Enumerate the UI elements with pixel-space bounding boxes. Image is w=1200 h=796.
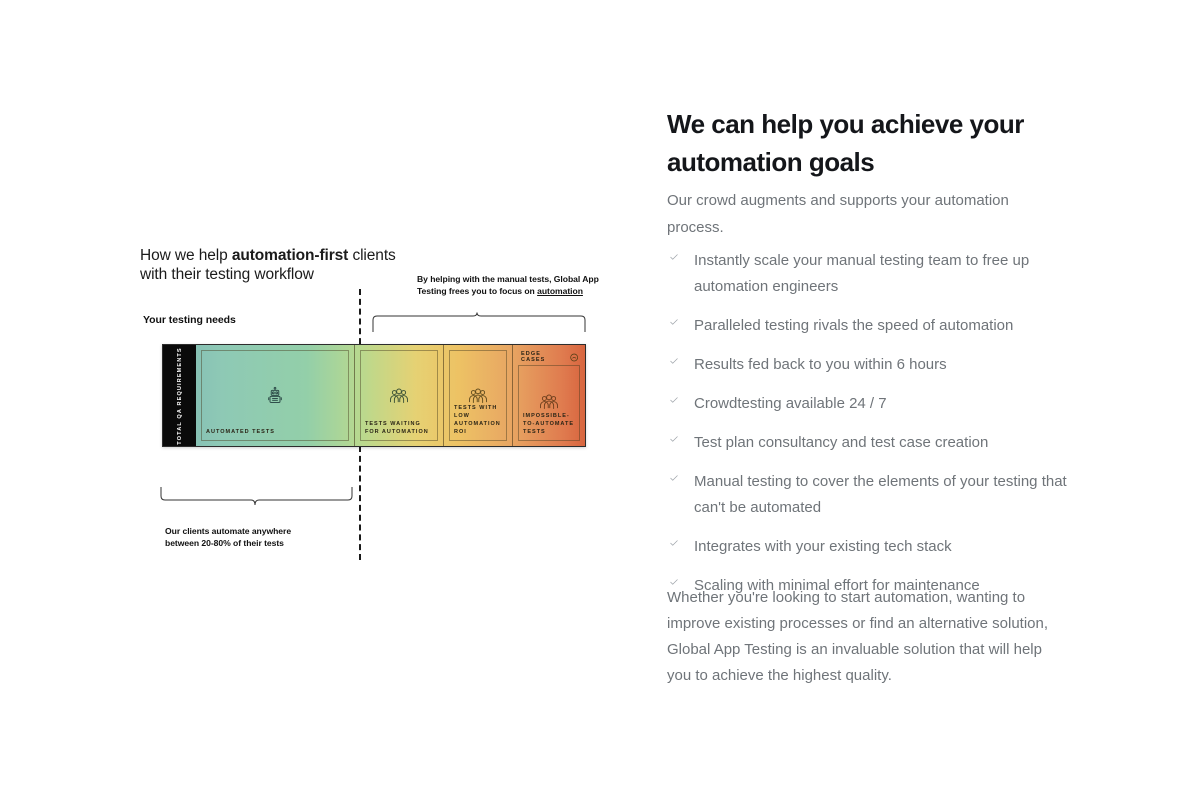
edge-cases-tag: EDGE CASES [521, 351, 578, 363]
check-icon [667, 534, 681, 546]
diagram-title-bold: automation-first [232, 247, 348, 264]
check-icon [667, 573, 681, 585]
benefit-text: Results fed back to you within 6 hours [694, 352, 947, 378]
check-icon [667, 430, 681, 442]
page-root: How we help automation-first clients wit… [0, 0, 1200, 796]
edge-cases-label: EDGE CASES [521, 351, 565, 363]
segment-impossible-to-automate-tests: EDGE CASES IMPOSSIBLE-TO-AUTOMATE TESTS [513, 345, 585, 446]
check-icon [667, 248, 681, 260]
people-group-icon [468, 387, 488, 405]
list-item: Test plan consultancy and test case crea… [667, 430, 1075, 456]
subheading: Our crowd augments and supports your aut… [667, 187, 1042, 241]
content-column: We can help you achieve your automation … [667, 0, 1097, 796]
diagram-title-line2: with their testing workflow [140, 266, 314, 283]
diagram-title: How we help automation-first clients wit… [140, 246, 440, 284]
check-icon [667, 391, 681, 403]
benefit-text: Integrates with your existing tech stack [694, 534, 952, 560]
diagram-footnote-line1: Our clients automate anywhere [165, 526, 291, 536]
total-qa-requirements-axis: TOTAL QA REQUIREMENTS [163, 345, 196, 446]
robot-icon [265, 386, 285, 406]
check-icon [667, 352, 681, 364]
bottom-bracket [160, 487, 353, 509]
segment-automated-tests: AUTOMATED TESTS [196, 345, 355, 446]
list-item: Paralleled testing rivals the speed of a… [667, 313, 1075, 339]
people-group-icon [389, 387, 409, 405]
segment-label: TESTS WITH LOW AUTOMATION ROI [454, 404, 504, 436]
page-title: We can help you achieve your automation … [667, 105, 1027, 181]
list-item: Manual testing to cover the elements of … [667, 469, 1075, 521]
diagram-top-note: By helping with the manual tests, Global… [417, 274, 607, 297]
diagram-title-part1: How we help [140, 247, 232, 264]
diagram-title-part2: clients [348, 247, 395, 264]
total-qa-requirements-label: TOTAL QA REQUIREMENTS [176, 347, 184, 444]
list-item: Crowdtesting available 24 / 7 [667, 391, 1075, 417]
benefit-text: Instantly scale your manual testing team… [694, 248, 1075, 300]
benefit-text: Paralleled testing rivals the speed of a… [694, 313, 1013, 339]
your-testing-needs-label: Your testing needs [143, 314, 236, 326]
testing-workflow-diagram: How we help automation-first clients wit… [0, 0, 640, 796]
benefit-text: Crowdtesting available 24 / 7 [694, 391, 887, 417]
diagram-footnote: Our clients automate anywhere between 20… [165, 526, 365, 549]
list-item: Integrates with your existing tech stack [667, 534, 1075, 560]
outro-paragraph: Whether you're looking to start automati… [667, 585, 1067, 689]
benefit-text: Test plan consultancy and test case crea… [694, 430, 988, 456]
benefit-text: Manual testing to cover the elements of … [694, 469, 1075, 521]
segment-tests-with-low-automation-roi: TESTS WITH LOW AUTOMATION ROI [444, 345, 513, 446]
edge-case-circle-icon [570, 353, 578, 362]
diagram-footnote-line2: between 20-80% of their tests [165, 538, 284, 548]
benefits-list: Instantly scale your manual testing team… [667, 248, 1075, 612]
diagram-top-note-underline: automation [537, 286, 583, 296]
top-bracket [372, 312, 586, 332]
check-icon [667, 469, 681, 481]
people-group-icon [539, 393, 559, 411]
check-icon [667, 313, 681, 325]
qa-requirements-bar: TOTAL QA REQUIREMENTS [162, 344, 586, 447]
segment-tests-waiting-for-automation: TESTS WAITING FOR AUTOMATION [355, 345, 444, 446]
list-item: Instantly scale your manual testing team… [667, 248, 1075, 300]
segment-label: AUTOMATED TESTS [206, 428, 346, 436]
list-item: Results fed back to you within 6 hours [667, 352, 1075, 378]
segment-label: IMPOSSIBLE-TO-AUTOMATE TESTS [523, 412, 577, 436]
segment-label: TESTS WAITING FOR AUTOMATION [365, 420, 435, 436]
